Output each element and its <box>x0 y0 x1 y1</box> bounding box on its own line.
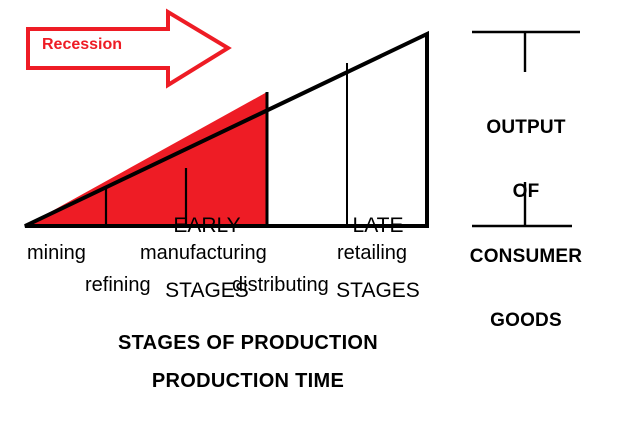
stage-label-retailing: retailing <box>337 243 407 263</box>
late-stages-label-line2: STAGES <box>330 280 426 302</box>
output-caption-line4: GOODS <box>450 310 602 331</box>
output-caption-line1: OUTPUT <box>450 117 602 138</box>
late-stages-label-line1: LATE <box>330 215 426 237</box>
heading-stages-of-production: STAGES OF PRODUCTION <box>0 333 496 353</box>
stage-label-distributing: distributing <box>232 275 329 295</box>
output-caption-line2: OF <box>450 181 602 202</box>
figure-canvas: Recession EARLY STAGES LATE STAGES minin… <box>0 0 640 426</box>
early-stages-label-line1: EARLY <box>148 215 266 237</box>
stage-label-refining: refining <box>85 275 151 295</box>
output-caption-line3: CONSUMER <box>450 246 602 267</box>
stage-label-mining: mining <box>27 243 86 263</box>
heading-production-time: PRODUCTION TIME <box>0 371 496 391</box>
stage-label-manufacturing: manufacturing <box>140 243 267 263</box>
output-bracket-caption: OUTPUT OF CONSUMER GOODS <box>450 74 602 375</box>
recession-arrow-label: Recession <box>42 37 122 53</box>
